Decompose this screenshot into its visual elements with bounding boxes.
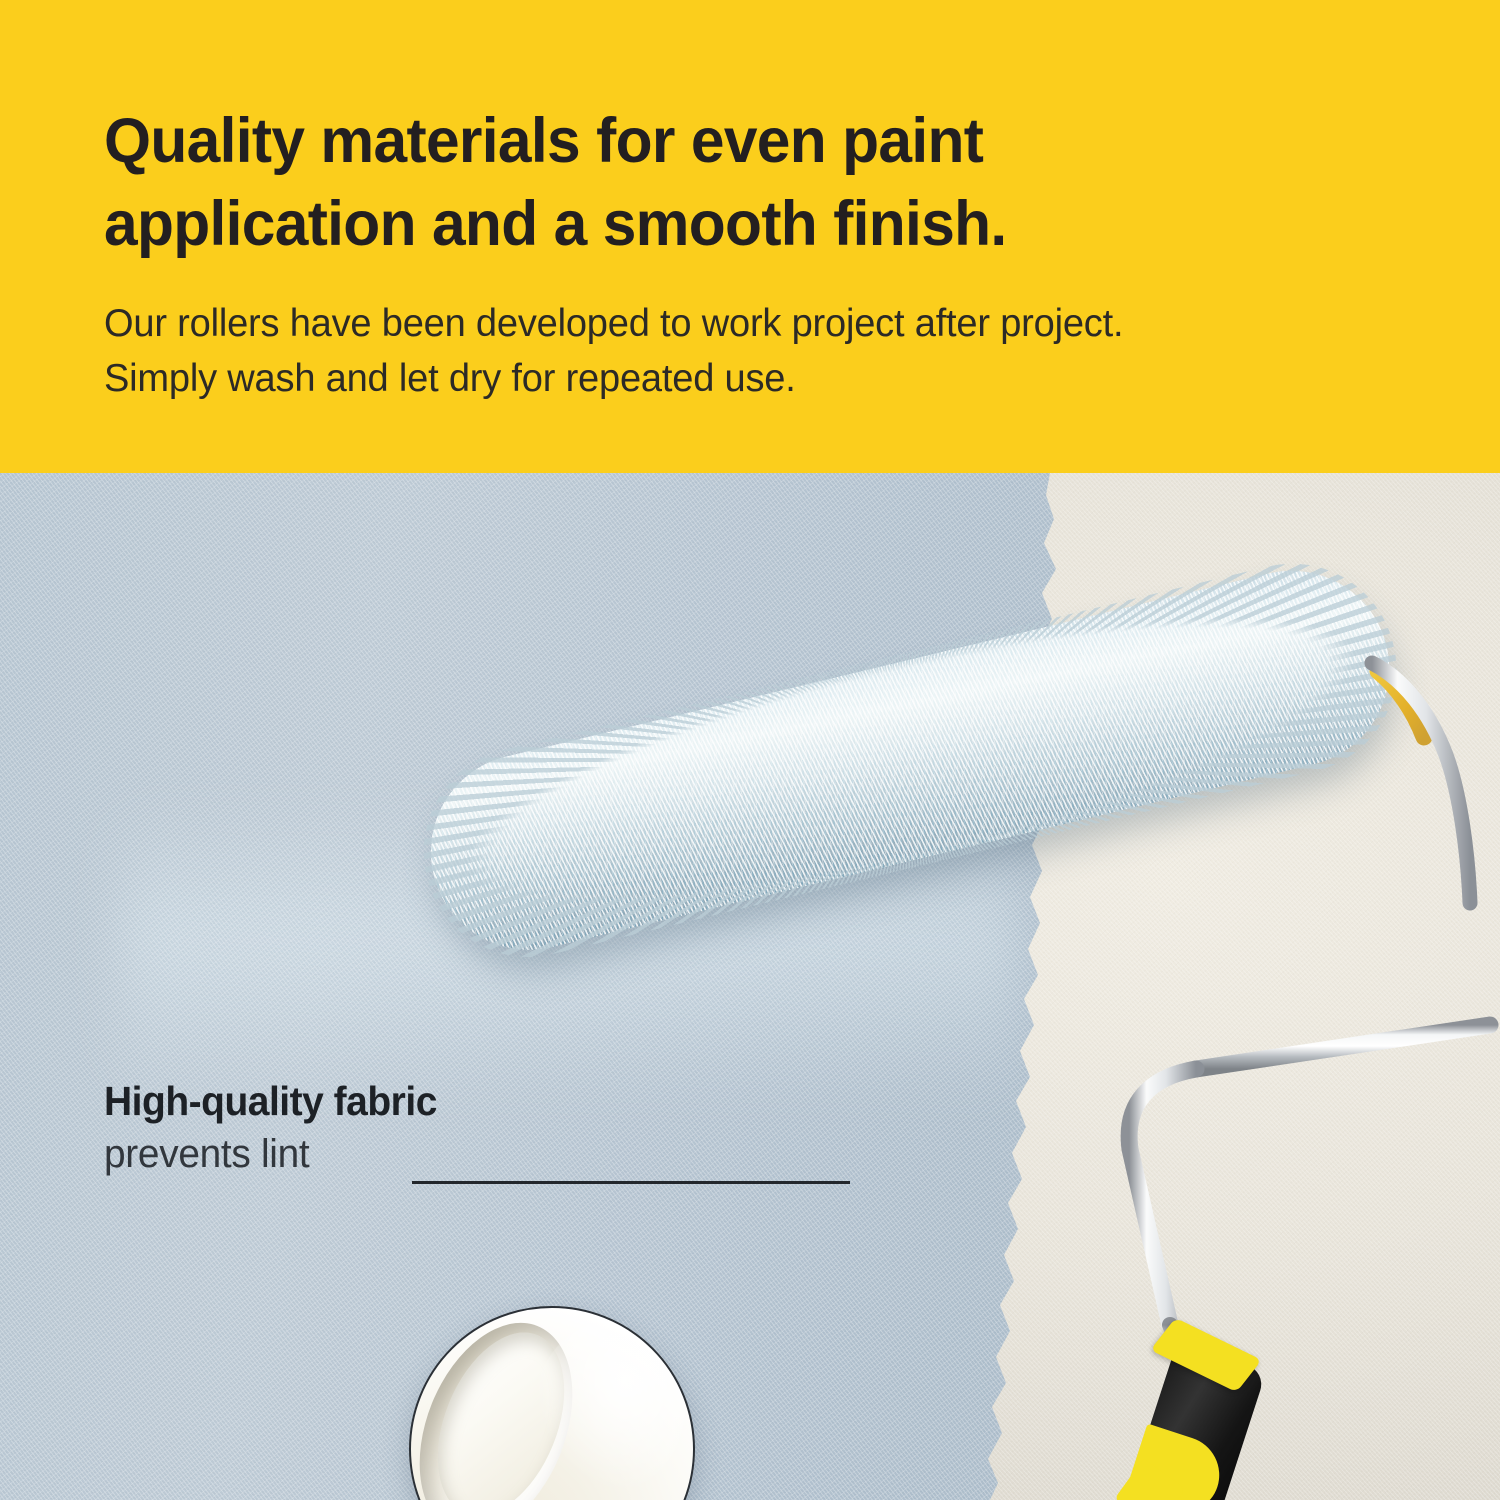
product-photo-scene: High-quality fabric prevents lint Polypr… [0,473,1500,1500]
yellow-header-band: Quality materials for even paint applica… [0,0,1500,473]
subheadline: Our rollers have been developed to work … [104,296,1303,407]
wet-paint-sheen [120,803,1020,1103]
infographic-canvas: High-quality fabric prevents lint Polypr… [0,0,1500,1500]
headline: Quality materials for even paint applica… [104,100,1218,266]
painted-wall [0,473,1160,1500]
